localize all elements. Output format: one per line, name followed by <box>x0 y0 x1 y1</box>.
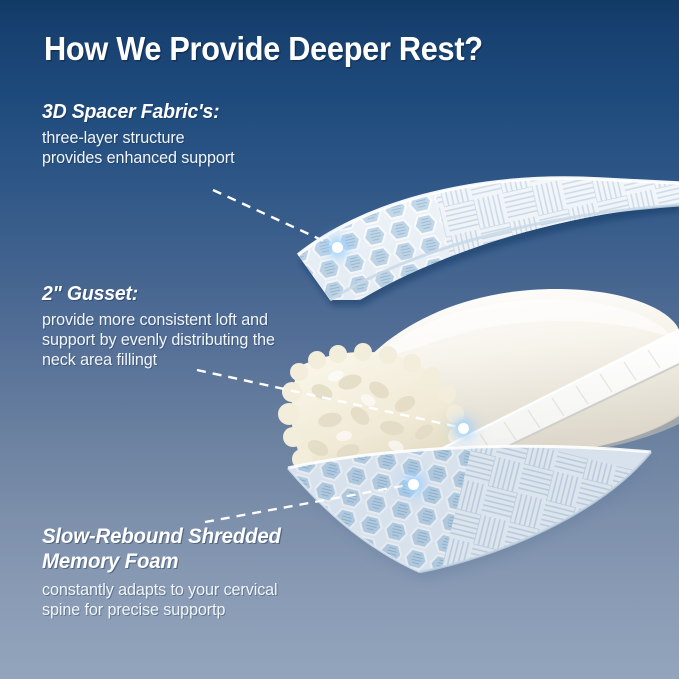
callout-gusset: 2" Gusset: provide more consistent loft … <box>42 282 287 370</box>
callout-body: constantly adapts to your cervical spine… <box>42 580 281 620</box>
callout-spacer-fabric: 3D Spacer Fabric's: three-layer structur… <box>42 100 245 168</box>
callout-body: three-layer structure provides enhanced … <box>42 128 234 168</box>
callout-heading: 3D Spacer Fabric's: <box>42 100 234 123</box>
page-title: How We Provide Deeper Rest? <box>44 30 483 68</box>
infographic-canvas: How We Provide Deeper Rest? 3D Spacer Fa… <box>0 0 679 679</box>
callout-body: provide more consistent loft and support… <box>42 310 275 370</box>
callout-memory-foam: Slow-Rebound Shredded Memory Foam consta… <box>42 524 293 620</box>
callout-heading: 2" Gusset: <box>42 282 275 305</box>
callout-heading: Slow-Rebound Shredded Memory Foam <box>42 524 281 573</box>
